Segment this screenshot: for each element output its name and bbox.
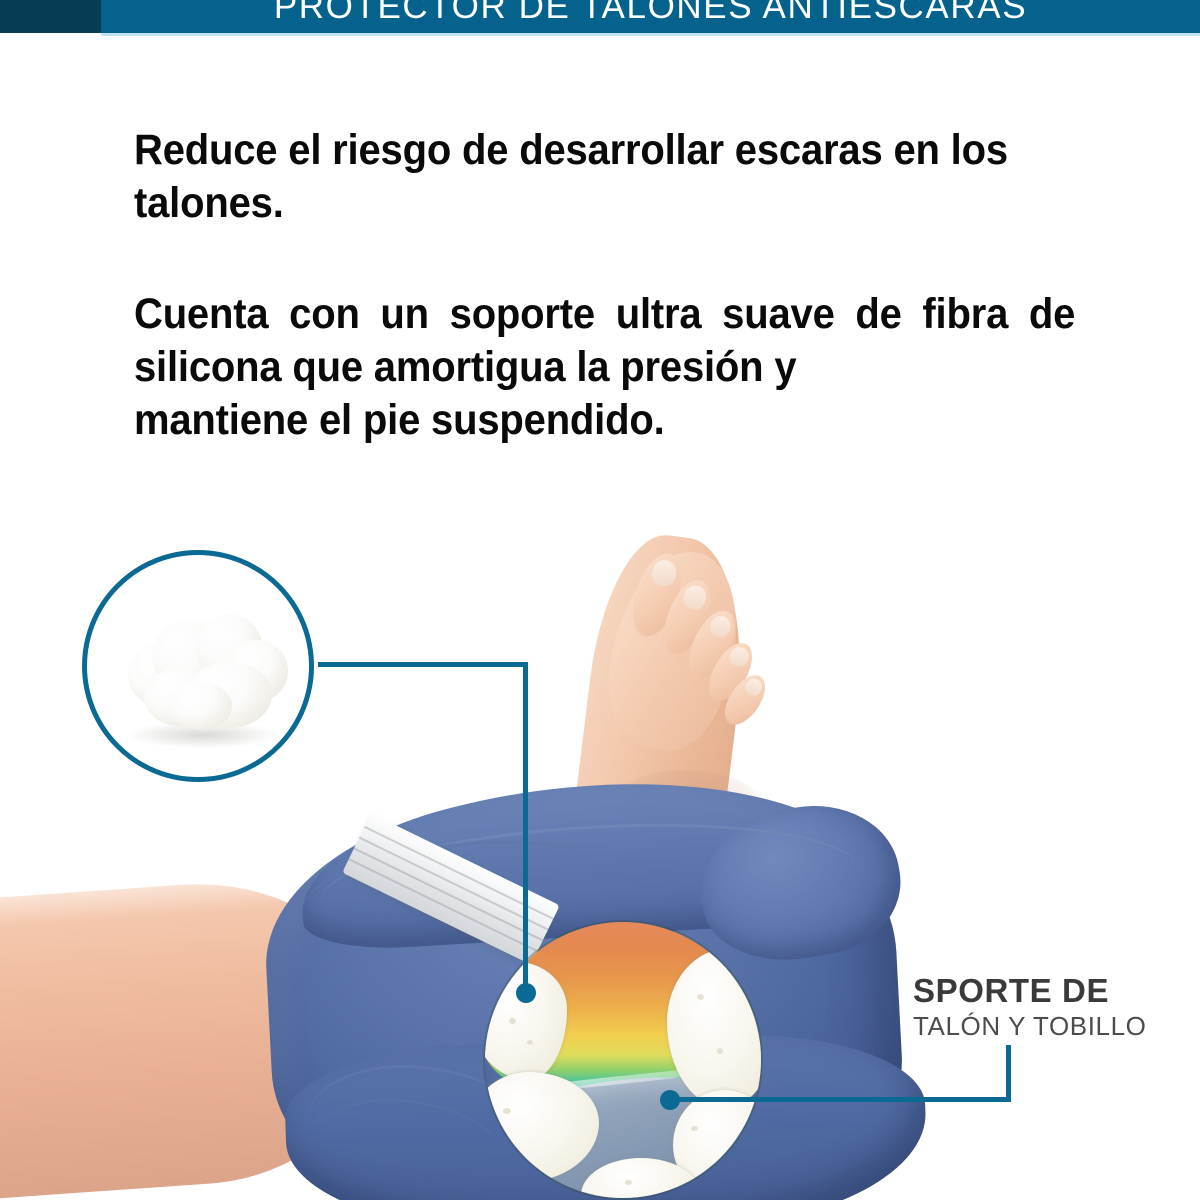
infographic-canvas: PROTECTOR DE TALONES ANTIESCARAS Reduce … <box>0 0 1200 1200</box>
connector-right-horizontal <box>672 1097 1011 1102</box>
connector-left-vertical <box>523 662 528 994</box>
support-label-line-1: SPORTE DE <box>913 973 1173 1009</box>
support-label-line-2: TALÓN Y TOBILLO <box>913 1011 1173 1042</box>
product-illustration <box>0 440 1200 1200</box>
banner-navy-block <box>0 0 101 33</box>
copy-block: Reduce el riesgo de desarrollar escaras … <box>134 124 1076 446</box>
toenail-1 <box>649 557 679 589</box>
toenail-3 <box>707 612 735 640</box>
banner-underline <box>101 33 1200 36</box>
paragraph-description: Cuenta con un soporte ultra suave de fib… <box>134 288 1075 447</box>
connector-left-endpoint-dot <box>516 983 536 1003</box>
connector-left-horizontal <box>318 662 528 667</box>
paragraph-description-line-1: Cuenta con un soporte ultra suave de fib… <box>134 290 1008 338</box>
support-label: SPORTE DE TALÓN Y TOBILLO <box>913 973 1173 1041</box>
header-banner: PROTECTOR DE TALONES ANTIESCARAS <box>0 0 1200 36</box>
paragraph-benefit: Reduce el riesgo de desarrollar escaras … <box>134 124 1075 230</box>
silicone-fiber-sample <box>122 610 294 734</box>
connector-right-vertical <box>1006 1045 1011 1102</box>
toenail-4 <box>726 644 752 670</box>
toenail-5 <box>742 676 765 699</box>
toenail-2 <box>681 583 709 613</box>
connector-right-endpoint-dot <box>660 1090 680 1110</box>
page-title: PROTECTOR DE TALONES ANTIESCARAS <box>101 0 1200 33</box>
paragraph-description-line-3: mantiene el pie suspendido. <box>134 394 1075 447</box>
